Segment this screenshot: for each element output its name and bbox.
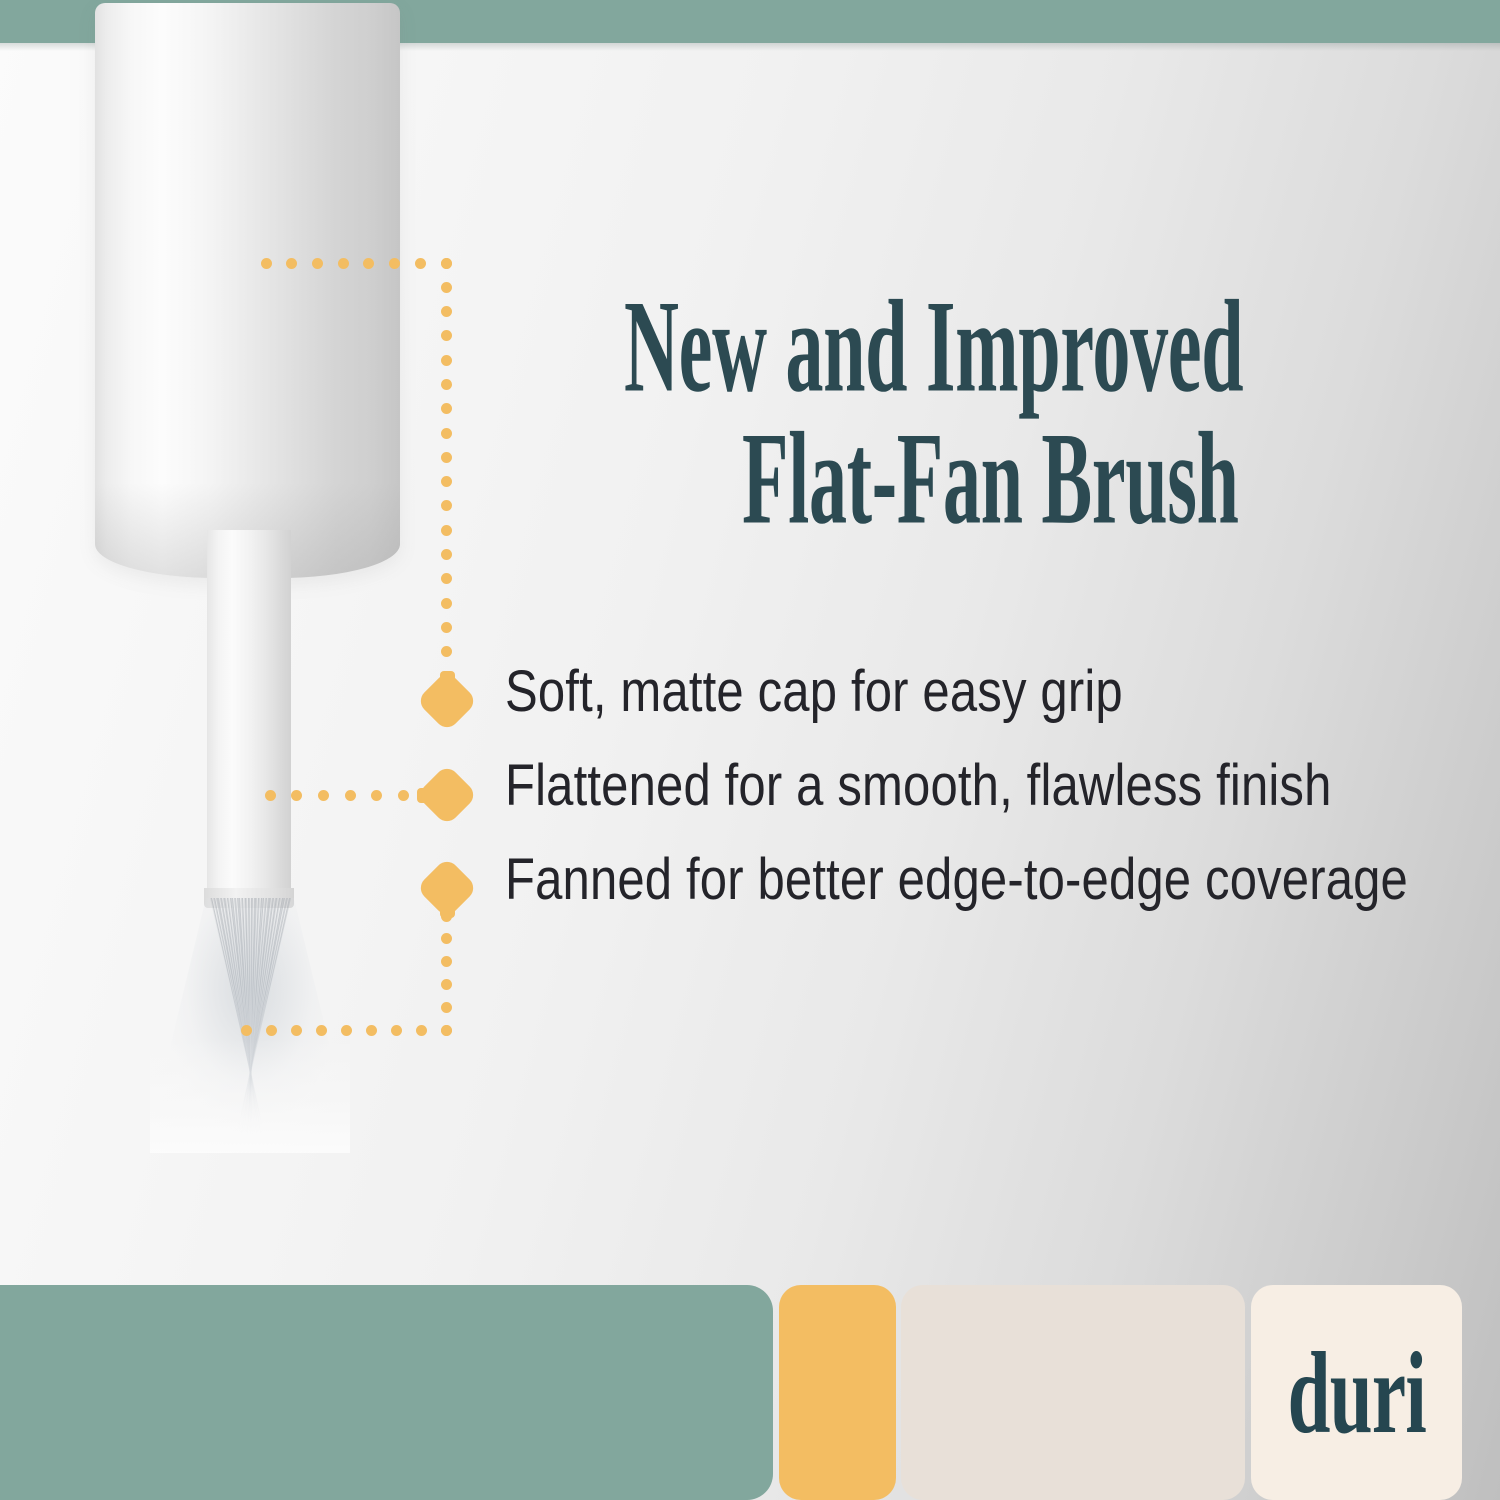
connector-dot [266, 1025, 277, 1036]
connector-dot [391, 1025, 402, 1036]
connector-dot [291, 790, 302, 801]
connector-dot [398, 790, 409, 801]
brand-logo-text: duri [1287, 1334, 1425, 1451]
connector-dot [291, 1025, 302, 1036]
feature-label: Soft, matte cap for easy grip [505, 662, 1123, 722]
connector-dot [441, 330, 452, 341]
connector-dot [441, 933, 452, 944]
beige-swatch [901, 1285, 1245, 1500]
connector-dot [441, 403, 452, 414]
headline-line-1: New and Improved [624, 283, 1127, 410]
connector-dot [441, 306, 452, 317]
connector-dot [441, 1025, 452, 1036]
connector-dot [341, 1025, 352, 1036]
connector-dot [312, 258, 323, 269]
connector-dot [441, 452, 452, 463]
connector-dot [441, 282, 452, 293]
connector-dot [261, 258, 272, 269]
connector-dot [441, 1002, 452, 1013]
footer-swatch-bar: duri [0, 1285, 1500, 1500]
connector-dot [316, 1025, 327, 1036]
connector-dot [416, 1025, 427, 1036]
brush-shaft [207, 530, 291, 905]
feature-label: Fanned for better edge-to-edge coverage [505, 850, 1408, 910]
headline-line-2: Flat-Fan Brush [742, 415, 1169, 542]
connector-dot [441, 355, 452, 366]
connector-dot [441, 500, 452, 511]
connector-dot [441, 476, 452, 487]
feature-list: Soft, matte cap for easy grip Flattened … [505, 662, 1465, 944]
product-image [0, 43, 470, 1163]
feature-label: Flattened for a smooth, flawless finish [505, 756, 1332, 816]
connector-dot [241, 1025, 252, 1036]
connector-dot [441, 549, 452, 560]
connector-dot [345, 790, 356, 801]
connector-dot [441, 646, 452, 657]
sage-green-swatch [0, 1285, 773, 1500]
connector-dot [441, 258, 452, 269]
connector-dot [441, 598, 452, 609]
connector-dot [441, 525, 452, 536]
feature-item-3: Fanned for better edge-to-edge coverage [505, 850, 1465, 944]
connector-dot [441, 956, 452, 967]
connector-dot [441, 979, 452, 990]
page-title: New and Improved Flat-Fan Brush [624, 283, 1404, 528]
connector-dot [286, 258, 297, 269]
connector-dot [441, 428, 452, 439]
brand-logo: duri [1251, 1285, 1462, 1500]
feature-item-2: Flattened for a smooth, flawless finish [505, 756, 1465, 850]
feature-item-1: Soft, matte cap for easy grip [505, 662, 1465, 756]
connector-dot [441, 379, 452, 390]
connector-dot [441, 573, 452, 584]
connector-dot [389, 258, 400, 269]
polish-cap [95, 3, 400, 578]
connector-dot [371, 790, 382, 801]
connector-dot [363, 258, 374, 269]
connector-dot [366, 1025, 377, 1036]
infographic-canvas: New and Improved Flat-Fan Brush Soft, ma… [0, 0, 1500, 1500]
connector-dot [441, 622, 452, 633]
connector-dot [415, 258, 426, 269]
gold-swatch [779, 1285, 896, 1500]
connector-dot [265, 790, 276, 801]
connector-dot [318, 790, 329, 801]
connector-dot [338, 258, 349, 269]
